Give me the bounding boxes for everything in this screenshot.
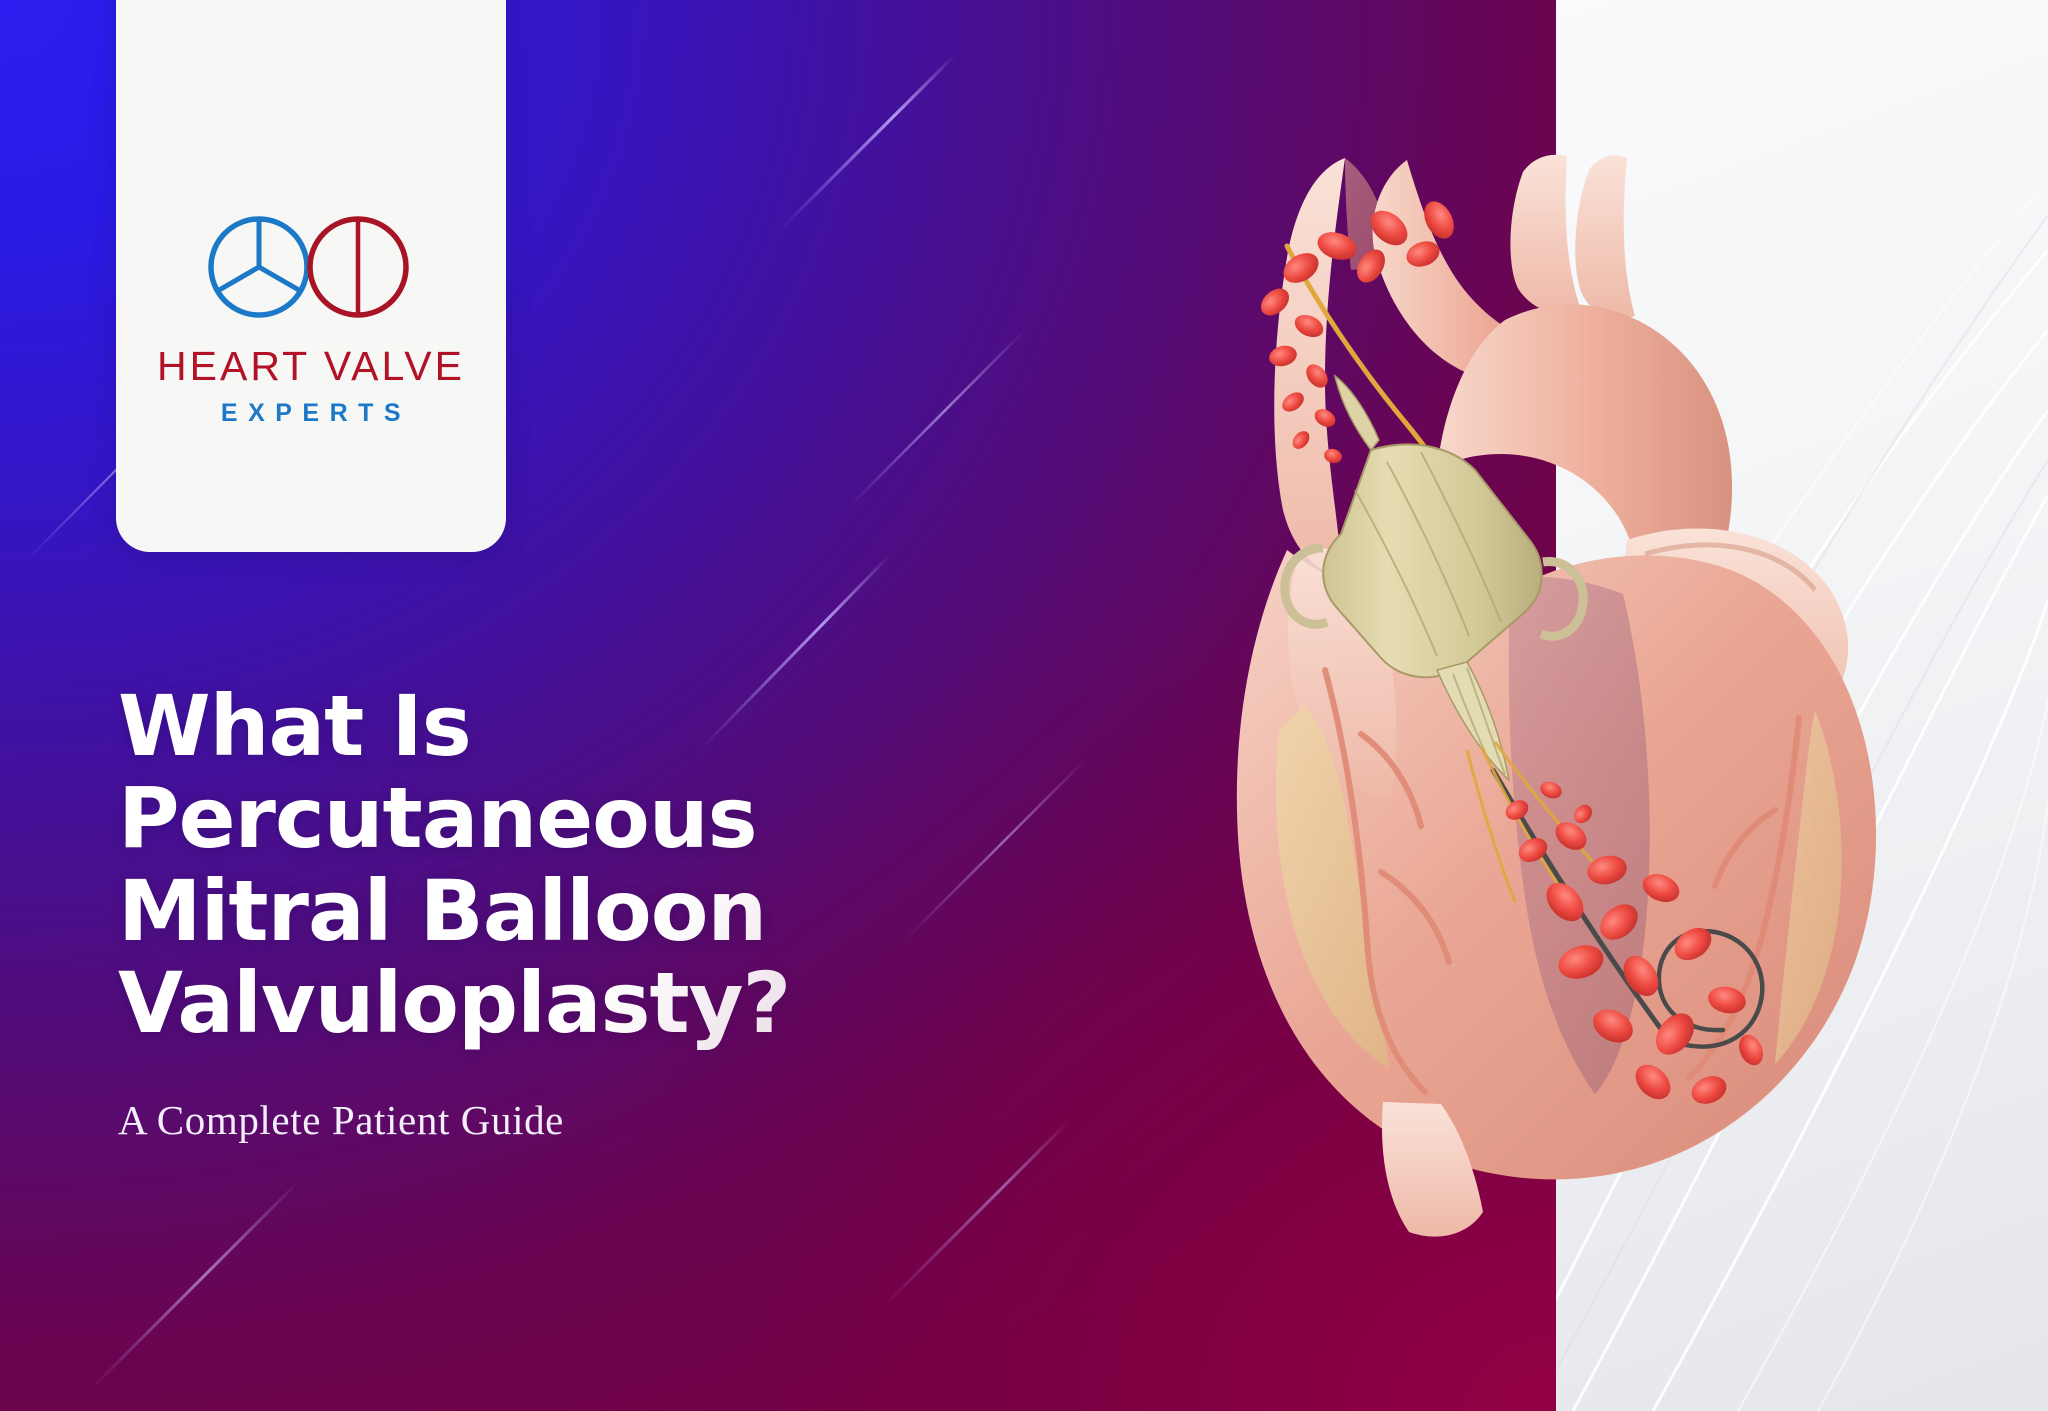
- logo-wordmark-line2: EXPERTS: [221, 401, 411, 426]
- headline-line-1: What Is Percutaneous: [118, 677, 757, 867]
- swoosh-lines-decoration: [1488, 0, 2048, 1411]
- logo-wordmark-line1: HEART VALVE: [157, 346, 465, 387]
- bicuspid-valve-circle: [310, 219, 406, 315]
- page-title: What Is PercutaneousMitral BalloonValvul…: [118, 680, 1118, 1050]
- logo-valve-marks: [206, 214, 416, 320]
- logo-wordmark: HEART VALVE EXPERTS: [157, 346, 465, 426]
- headline-line-3: Valvuloplasty?: [118, 954, 790, 1052]
- page-subtitle: A Complete Patient Guide: [118, 1096, 1118, 1144]
- tricuspid-valve-circle: [211, 219, 307, 315]
- right-decorative-panel: [1488, 0, 2048, 1411]
- hero-text-block: What Is PercutaneousMitral BalloonValvul…: [118, 680, 1118, 1144]
- blog-cover-canvas: HEART VALVE EXPERTS What Is Percutaneous…: [0, 0, 2048, 1411]
- headline-line-2: Mitral Balloon: [118, 862, 766, 960]
- gradient-background-panel: HEART VALVE EXPERTS What Is Percutaneous…: [0, 0, 1556, 1411]
- valve-symbols-icon: [206, 214, 416, 320]
- brand-logo-card[interactable]: HEART VALVE EXPERTS: [116, 0, 506, 552]
